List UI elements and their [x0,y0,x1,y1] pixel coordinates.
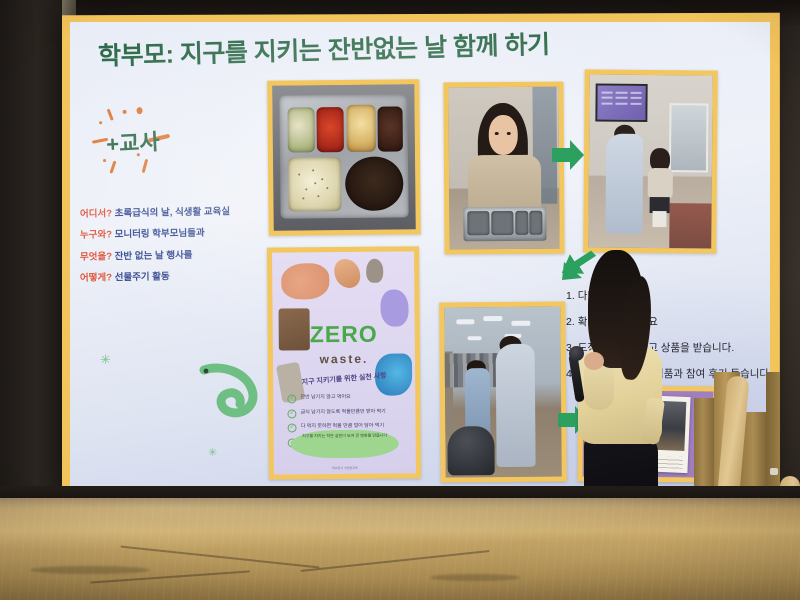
poster-jellyfish-illustration [380,289,409,327]
poster-checklist-item: ✓ 다 먹지 못하면 먹을 만큼 덜어 담아 먹기 [288,422,404,423]
floor-reflection [0,498,800,600]
sparkle-mark [99,121,102,124]
check-icon: ✓ [288,409,297,418]
qa-question: 무엇을? [80,251,112,263]
snowflake-decoration-icon: ✳ [208,446,217,459]
slide-subtitle: +교사 [105,124,160,159]
floor-scuff-mark [430,574,520,581]
poster-credit: 학교급식 식생활교육 [332,465,358,469]
zero-waste-poster: ZERO waste. 지구 지키기를 위한 실천 사항 ✓ 잔반 남기지 않고… [267,246,421,479]
arrow-right-icon [550,138,586,172]
photo-hallway-stamp-check [583,69,718,253]
check-icon: ✓ [288,423,297,432]
poster-checklist-item: ✓ 잔반 남기지 않고 먹어요 [287,394,403,395]
photograph-scene: 학부모: 지구를 지키는 잔반없는 날 함께 하기 +교사 어디서? 초록급식의… [0,0,800,600]
qa-block: 어디서? 초록급식의 날, 식생활 교육실 누구와? 모니터링 학부모님들과 무… [80,208,290,294]
sparkle-mark [136,107,142,114]
photo-school-lunch-tray [267,79,421,236]
poster-bubble-note: 지구를 지키는 작은 실천이 모여 큰 변화를 만듭니다 [291,429,399,459]
poster-bag-illustration [278,308,310,350]
sparkle-mark [122,110,126,114]
qa-answer: 잔반 없는 날 행사를 [115,250,193,262]
qa-row: 누구와? 모니터링 학부모님들과 [80,228,290,242]
qa-row: 어떻게? 선물주기 활동 [80,271,290,285]
poster-checklist-item: ✓ 급식 남기지 않도록 먹을만큼만 받아 먹기 [288,408,404,409]
qa-question: 어떻게? [80,273,112,285]
microphone-head-icon [569,346,584,361]
qa-question: 누구와? [80,230,112,242]
sparkle-mark [142,159,149,173]
checklist-text: 급식 남기지 않도록 먹을만큼만 받아 먹기 [301,408,403,416]
qa-answer: 선물주기 활동 [115,272,170,284]
sparkle-mark [109,160,116,173]
photo-student-holding-tray [443,82,564,255]
photo-cafeteria-volunteer [439,301,567,482]
floor-scuff-mark [30,566,150,574]
poster-subhead: waste. [320,352,369,366]
wall-left-panel [0,0,62,505]
qa-row: 무엇을? 잔반 없는 날 행사를 [80,249,290,263]
slide-title: 학부모: 지구를 지키는 잔반없는 날 함께 하기 [98,22,759,73]
poster-shell-illustration [366,258,383,283]
poster-hand-illustration [335,259,361,288]
snowflake-decoration-icon: ✳ [100,352,111,368]
poster-bread-illustration [281,263,330,299]
poster-tagline: 지구 지키기를 위한 실천 사항 [301,371,387,388]
presenter-hand [584,352,604,370]
qa-question: 어디서? [80,208,112,220]
check-icon: ✓ [287,394,296,403]
poster-headline: ZERO [310,321,378,349]
worm-decoration-icon [196,360,266,422]
sparkle-mark [103,159,106,162]
qa-row: 어디서? 초록급식의 날, 식생활 교육실 [80,206,290,220]
checklist-text: 잔반 남기지 않고 먹어요 [300,394,402,402]
qa-answer: 초록급식의 날, 식생활 교육실 [115,206,231,219]
qa-answer: 모니터링 학부모님들과 [115,228,205,241]
checklist-text: 다 먹지 못하면 먹을 만큼 덜어 담아 먹기 [301,422,403,430]
sparkle-mark [107,109,114,121]
slide-subtitle-group: +교사 [90,102,233,173]
